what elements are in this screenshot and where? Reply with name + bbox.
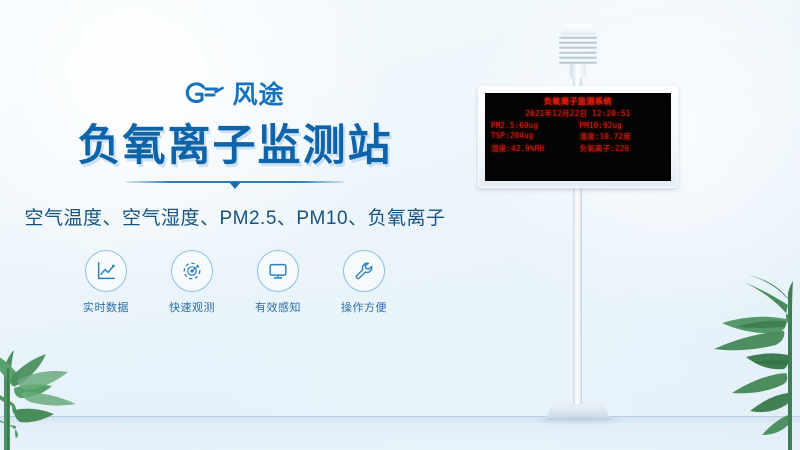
feature-label: 快速观测 — [161, 299, 223, 315]
ground-horizon — [0, 416, 800, 450]
feature-label: 操作方便 — [333, 299, 395, 315]
led-reading-tsp: TSP:204ug — [491, 131, 578, 142]
led-datetime: 2021年12月22日 12:20:51 — [485, 108, 671, 119]
sensor-louvers — [559, 35, 597, 65]
led-screen-title: 负氧离子监测系统 — [485, 96, 671, 107]
led-reading-pm10: PM10:92ug — [580, 121, 667, 130]
led-reading-negative-oxygen-ions: 负氧离子:226 — [580, 143, 667, 154]
brand-logo: 风途 — [0, 78, 470, 112]
feature-item-realtime-data: 实时数据 — [75, 250, 137, 315]
radiation-shield-sensor-icon — [552, 24, 604, 76]
title-divider — [126, 180, 344, 190]
radar-scan-icon — [171, 250, 213, 292]
feature-item-effective-sensing: 有效感知 — [247, 250, 309, 315]
led-reading-pm25: PM2.5:69ug — [491, 121, 578, 130]
feature-label: 有效感知 — [247, 299, 309, 315]
ground-horizon-line — [0, 416, 800, 417]
promo-banner: 风途 负氧离子监测站 空气温度、空气湿度、PM2.5、PM10、负氧离子 实时数… — [0, 0, 800, 450]
page-title: 负氧离子监测站 — [0, 124, 470, 169]
monitor-icon — [257, 250, 299, 292]
pole-base-shadow — [538, 418, 618, 423]
feature-item-easy-operation: 操作方便 — [333, 250, 395, 315]
triangle-down-divider-icon — [229, 182, 241, 189]
led-readings-grid: PM2.5:69ug PM10:92ug TSP:204ug 温度:10.72度… — [485, 121, 671, 154]
brand-name: 风途 — [232, 83, 284, 108]
hero-text-panel: 风途 负氧离子监测站 空气温度、空气湿度、PM2.5、PM10、负氧离子 实时数… — [0, 78, 470, 315]
led-reading-humidity: 湿度:42.9%RH — [491, 143, 578, 154]
feature-label: 实时数据 — [75, 299, 137, 315]
sensor-stem — [570, 64, 586, 78]
feature-list: 实时数据 快速观测 — [0, 250, 470, 315]
hero-subtitle: 空气温度、空气湿度、PM2.5、PM10、负氧离子 — [0, 203, 470, 230]
line-chart-icon — [85, 250, 127, 292]
wrench-icon — [343, 250, 385, 292]
led-reading-temperature: 温度:10.72度 — [580, 131, 667, 142]
led-display-panel[interactable]: 负氧离子监测系统 2021年12月22日 12:20:51 PM2.5:69ug… — [478, 86, 678, 188]
feature-item-fast-observation: 快速观测 — [161, 250, 223, 315]
led-screen: 负氧离子监测系统 2021年12月22日 12:20:51 PM2.5:69ug… — [485, 93, 671, 181]
fengtu-swirl-logo-icon — [185, 82, 225, 108]
